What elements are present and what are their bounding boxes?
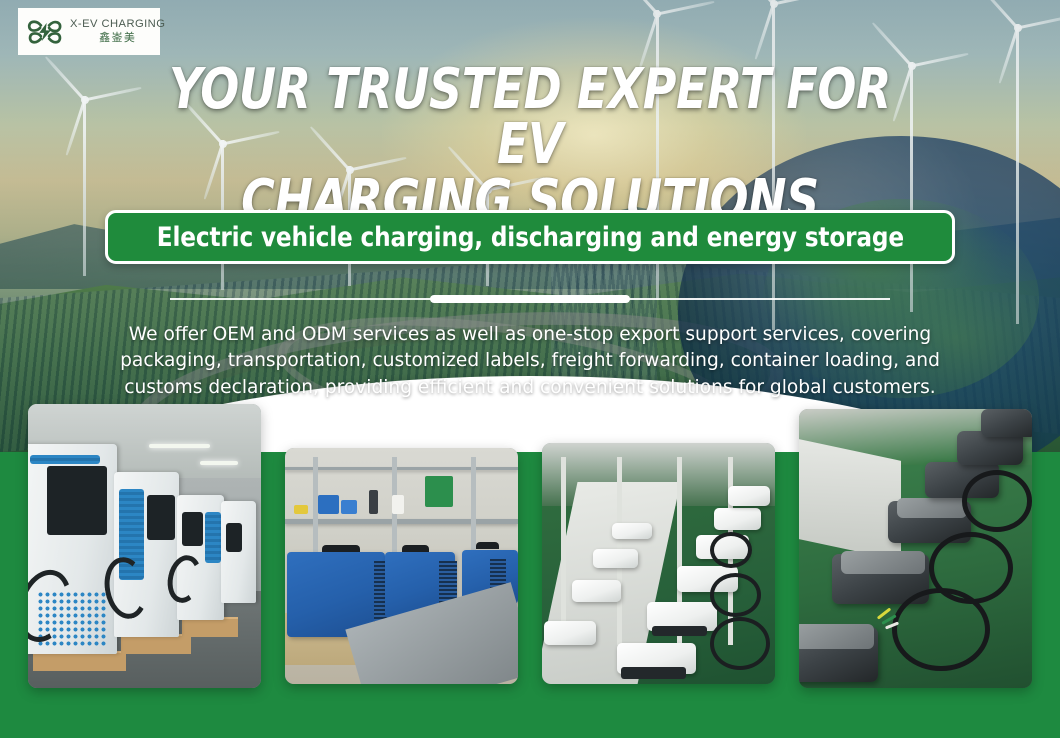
tagline-text: Electric vehicle charging, discharging a… xyxy=(156,222,903,253)
gallery-photo-dc-fast-chargers[interactable] xyxy=(28,404,261,688)
photo-content xyxy=(542,443,775,684)
propeller-bolt-logo-icon xyxy=(25,13,65,51)
brand-logo[interactable]: X-EV CHARGING 鑫崟美 xyxy=(18,8,160,55)
headline-line-1: YOUR TRUSTED EXPERT FOR EV xyxy=(169,57,891,177)
gallery-photo-blue-portable-units[interactable] xyxy=(285,448,518,684)
gallery-photo-dark-chargers-cables[interactable] xyxy=(799,409,1032,688)
photo-content xyxy=(28,404,261,688)
photo-content xyxy=(799,409,1032,688)
photo-content xyxy=(285,448,518,684)
page-title: YOUR TRUSTED EXPERT FOR EV CHARGING SOLU… xyxy=(95,62,964,228)
brand-name-cn: 鑫崟美 xyxy=(70,33,165,45)
tagline-banner: Electric vehicle charging, discharging a… xyxy=(105,210,955,264)
hero-description: We offer OEM and ODM services as well as… xyxy=(95,322,965,401)
section-divider xyxy=(170,297,890,301)
divider-center-pill xyxy=(430,295,630,303)
brand-name-en: X-EV CHARGING xyxy=(70,19,165,31)
brand-logo-text: X-EV CHARGING 鑫崟美 xyxy=(70,19,165,44)
product-photo-gallery xyxy=(0,400,1060,690)
gallery-photo-white-wallboxes[interactable] xyxy=(542,443,775,684)
